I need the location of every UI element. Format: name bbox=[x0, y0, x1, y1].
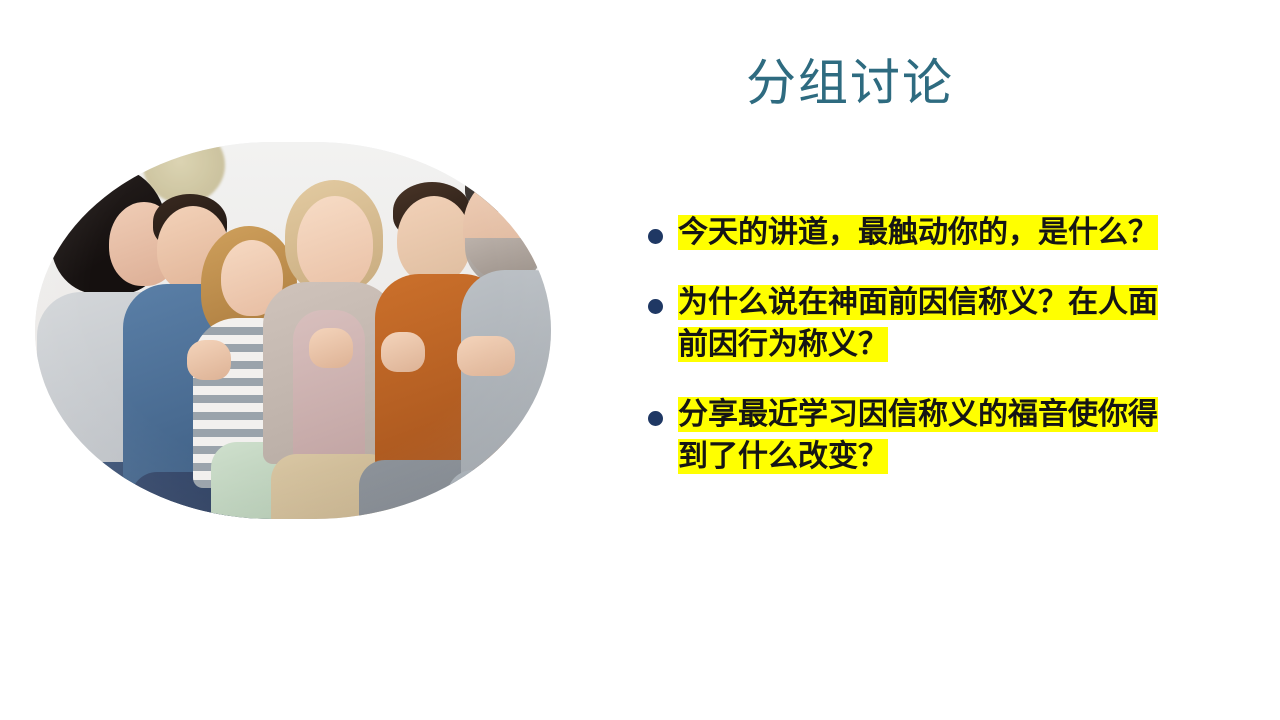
group-discussion-photo bbox=[35, 142, 551, 519]
page-title: 分组讨论 bbox=[600, 52, 1100, 114]
bullet-dot-icon bbox=[648, 229, 663, 244]
bullet-dot-icon bbox=[648, 411, 663, 426]
bullet-dot-icon bbox=[648, 299, 663, 314]
list-item: 分享最近学习因信称义的福音使你得到了什么改变？ bbox=[648, 394, 1172, 478]
joined-hands bbox=[185, 328, 515, 376]
discussion-question-1: 今天的讲道，最触动你的，是什么？ bbox=[678, 215, 1158, 250]
photo-canvas bbox=[35, 142, 551, 519]
list-item: 今天的讲道，最触动你的，是什么？ bbox=[648, 212, 1172, 254]
discussion-question-2: 为什么说在神面前因信称义？在人面前因行为称义？ bbox=[678, 285, 1158, 362]
list-item: 为什么说在神面前因信称义？在人面前因行为称义？ bbox=[648, 282, 1172, 366]
slide: 分组讨论 bbox=[0, 0, 1280, 720]
discussion-question-3: 分享最近学习因信称义的福音使你得到了什么改变？ bbox=[678, 397, 1158, 474]
discussion-question-list: 今天的讲道，最触动你的，是什么？ 为什么说在神面前因信称义？在人面前因行为称义？… bbox=[648, 212, 1172, 478]
